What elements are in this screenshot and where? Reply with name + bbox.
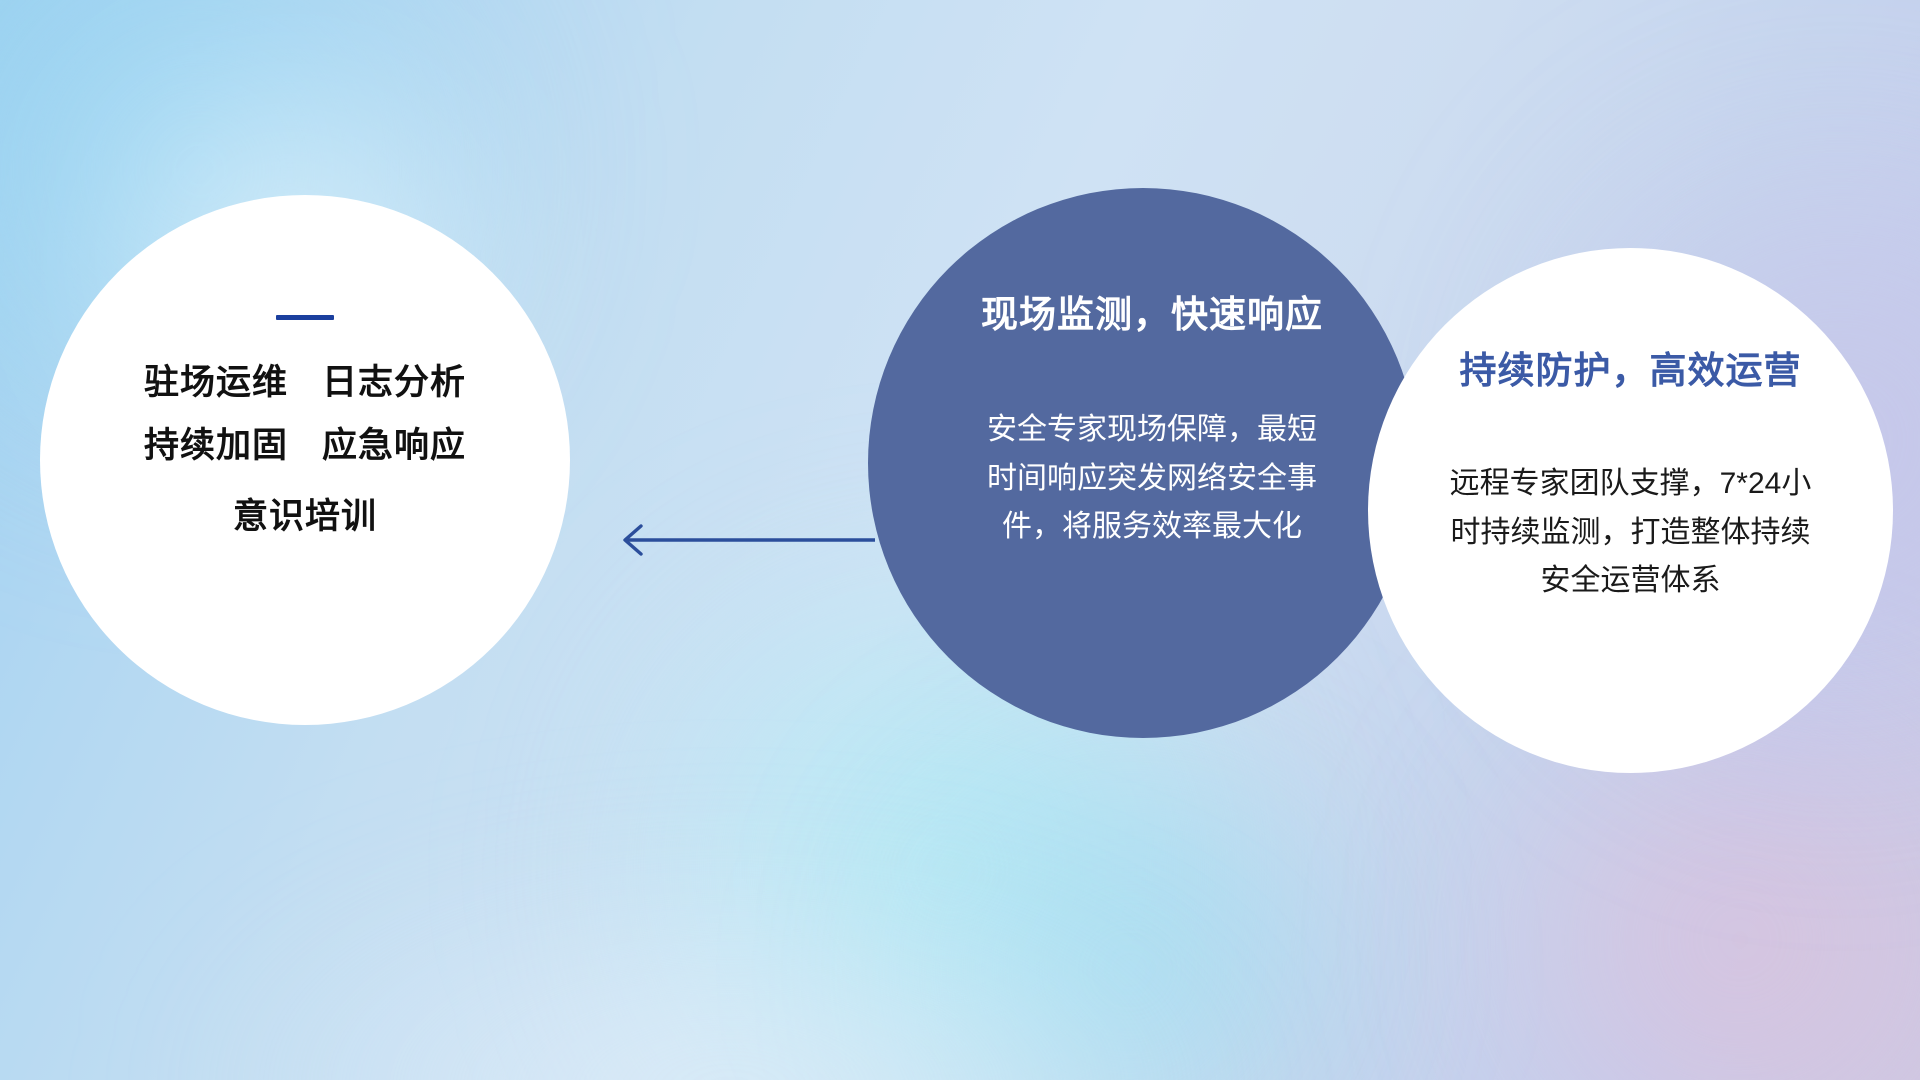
service-circle-onsite[interactable]: 现场监测，快速响应 安全专家现场保障，最短时间响应突发网络安全事件，将服务效率最… [868, 188, 1418, 738]
capability-item-chixujiagu[interactable]: 持续加固 [144, 428, 288, 463]
accent-divider-dash [276, 315, 334, 320]
capability-item-zhuchangyunwei[interactable]: 驻场运维 [144, 365, 288, 400]
capability-item-rizhifenxi[interactable]: 日志分析 [322, 365, 466, 400]
service-circle-onsite-body: 安全专家现场保障，最短时间响应突发网络安全事件，将服务效率最大化 [987, 406, 1317, 552]
capability-item-yingjixiangying[interactable]: 应急响应 [322, 428, 466, 463]
service-circle-onsite-title: 现场监测，快速响应 [981, 284, 1323, 338]
service-circle-remote-body: 远程专家团队支撑，7*24小时持续监测，打造整体持续安全运营体系 [1446, 460, 1816, 606]
service-circle-remote-content: 持续防护，高效运营 远程专家团队支撑，7*24小时持续监测，打造整体持续安全运营… [1368, 248, 1893, 606]
capability-row-2: 持续加固 应急响应 [144, 428, 466, 463]
capability-circle-left[interactable]: 驻场运维 日志分析 持续加固 应急响应 意识培训 [40, 195, 570, 725]
capability-circle-left-content: 驻场运维 日志分析 持续加固 应急响应 意识培训 [40, 195, 570, 534]
flow-arrow-left-icon [605, 518, 875, 562]
capability-row-3: 意识培训 [233, 499, 377, 534]
slide-canvas: 驻场运维 日志分析 持续加固 应急响应 意识培训 现场监测，快速响应 安全专家现… [0, 0, 1920, 1080]
flow-arrow-left [605, 518, 875, 562]
capability-row-1: 驻场运维 日志分析 [144, 365, 466, 400]
service-circle-remote[interactable]: 持续防护，高效运营 远程专家团队支撑，7*24小时持续监测，打造整体持续安全运营… [1368, 248, 1893, 773]
service-circle-onsite-content: 现场监测，快速响应 安全专家现场保障，最短时间响应突发网络安全事件，将服务效率最… [868, 188, 1418, 552]
service-circle-remote-title: 持续防护，高效运营 [1460, 340, 1802, 394]
capability-item-yishipeixun[interactable]: 意识培训 [233, 499, 377, 534]
